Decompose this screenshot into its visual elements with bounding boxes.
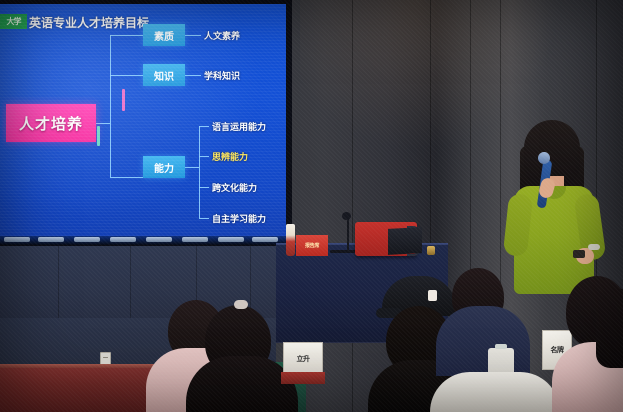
small-object [427,246,435,255]
mindmap-leaf-sibian: 思辨能力 [212,150,248,163]
slide-title: 英语专业人才培养目标 [29,14,149,31]
slide-badge: 大学 [0,14,27,29]
mindmap-leaf-yuyan: 语言运用能力 [212,120,266,133]
presenter-wristband [588,244,600,250]
hair-tie [234,300,248,309]
mindmap-root-label: 人才培养 [19,113,83,134]
connector-nengli-out [185,167,199,168]
mindmap-leaf-renwen: 人文素养 [204,29,240,42]
mindmap-branch-zhishi: 知识 [143,64,185,86]
connector-root-out [96,123,110,124]
slide-accent-bar-teal [97,126,100,146]
connector-zhishi-leaf [185,75,201,76]
mindmap-branch-label: 能力 [154,160,174,175]
table-name-card: 报告席 [296,235,328,256]
audience-name-card-text: 立升 [297,354,310,364]
mindmap-branch-suzhi: 素质 [143,24,185,46]
connector-leaf-2 [199,156,209,157]
connector-leaf-3 [199,187,209,188]
mic-stand-pole [347,218,349,252]
connector-to-nengli [110,177,143,178]
screen-bottom-edge [0,236,286,245]
slide-badge-label: 大学 [7,16,21,27]
projection-screen: 大学 英语专业人才培养目标 人才培养 素质 [0,4,286,236]
wall-seam [352,0,353,412]
mindmap-leaf-kuawenhua: 跨文化能力 [212,181,257,194]
bottle-cap [495,344,507,349]
audience-name-card: 立升 [283,342,323,376]
connector-nengli-spine [199,126,200,218]
mindmap-branch-label: 素质 [154,28,174,43]
connector-leaf-1 [199,126,209,127]
desk-microphone-icon [342,212,351,220]
connector-trunk [110,35,111,177]
red-folder [281,372,325,384]
mindmap-root-node: 人才培养 [6,104,96,142]
lecture-hall-photo: 大学 英语专业人才培养目标 人才培养 素质 [0,0,623,412]
connector-to-suzhi [110,35,143,36]
mindmap-branch-label: 知识 [154,68,174,83]
connector-suzhi-leaf [185,35,201,36]
presenter-held-object [573,250,585,258]
slide-accent-bar-pink [122,89,125,111]
mindmap-leaf-xueke: 学科知识 [204,69,240,82]
mindmap-branch-nengli: 能力 [143,156,185,178]
table-bottle [286,224,295,256]
laptop [388,227,422,255]
projection-screen-frame: 大学 英语专业人才培养目标 人才培养 素质 [0,0,292,246]
table-name-card-text: 报告席 [305,242,319,249]
connector-to-zhishi [110,75,143,76]
mindmap-leaf-zizhu: 自主学习能力 [212,212,266,225]
connector-leaf-4 [199,218,209,219]
cap-logo-icon [428,290,437,301]
audience-name-card-2-text: 名牌 [551,345,564,355]
